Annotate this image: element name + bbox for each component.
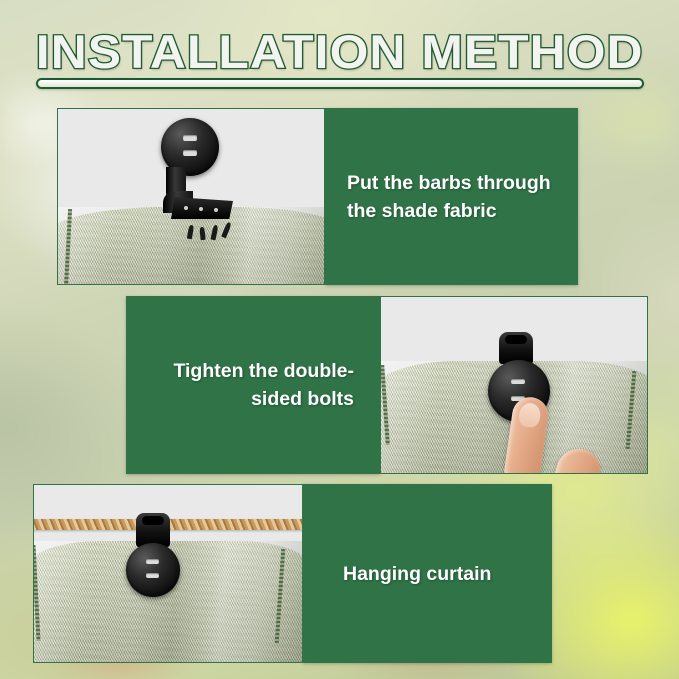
- step-3-caption-text: Hanging curtain: [303, 560, 552, 588]
- installation-method-infographic: INSTALLATION METHOD: [0, 0, 679, 679]
- page-title-text: INSTALLATION METHOD: [36, 26, 644, 78]
- step-2-photo: [380, 296, 648, 474]
- clip-slot-lower: [183, 150, 197, 156]
- step-1-photo: [57, 108, 325, 285]
- clip-disc-icon: [126, 543, 180, 597]
- step-1-caption-text: Put the barbs through the shade fabric: [325, 169, 578, 225]
- title-underline-bar: [36, 78, 644, 89]
- step-row-2: Tighten the double-sided bolts: [126, 296, 648, 474]
- clip-slot-lower: [146, 573, 159, 578]
- step-3-photo: [33, 484, 303, 663]
- barb-plate-hole-1: [184, 206, 188, 210]
- clip-hook-notch: [142, 516, 164, 525]
- clip-slot-upper: [511, 379, 525, 384]
- barb-plate-hole-3: [214, 208, 218, 212]
- step-3-caption-panel: Hanging curtain: [303, 484, 552, 663]
- fingernail: [518, 402, 542, 429]
- step-2-caption-text: Tighten the double-sided bolts: [126, 357, 380, 413]
- step-1-caption-panel: Put the barbs through the shade fabric: [325, 108, 578, 285]
- clip-slot-upper: [183, 135, 197, 141]
- barb-plate-hole-2: [199, 207, 203, 211]
- step-row-3: Hanging curtain: [33, 484, 552, 663]
- clip-slot-upper: [146, 559, 159, 564]
- page-title: INSTALLATION METHOD: [0, 26, 679, 78]
- clip-hook-notch: [505, 335, 527, 344]
- step-row-1: Put the barbs through the shade fabric: [57, 108, 578, 285]
- step-2-caption-panel: Tighten the double-sided bolts: [126, 296, 380, 474]
